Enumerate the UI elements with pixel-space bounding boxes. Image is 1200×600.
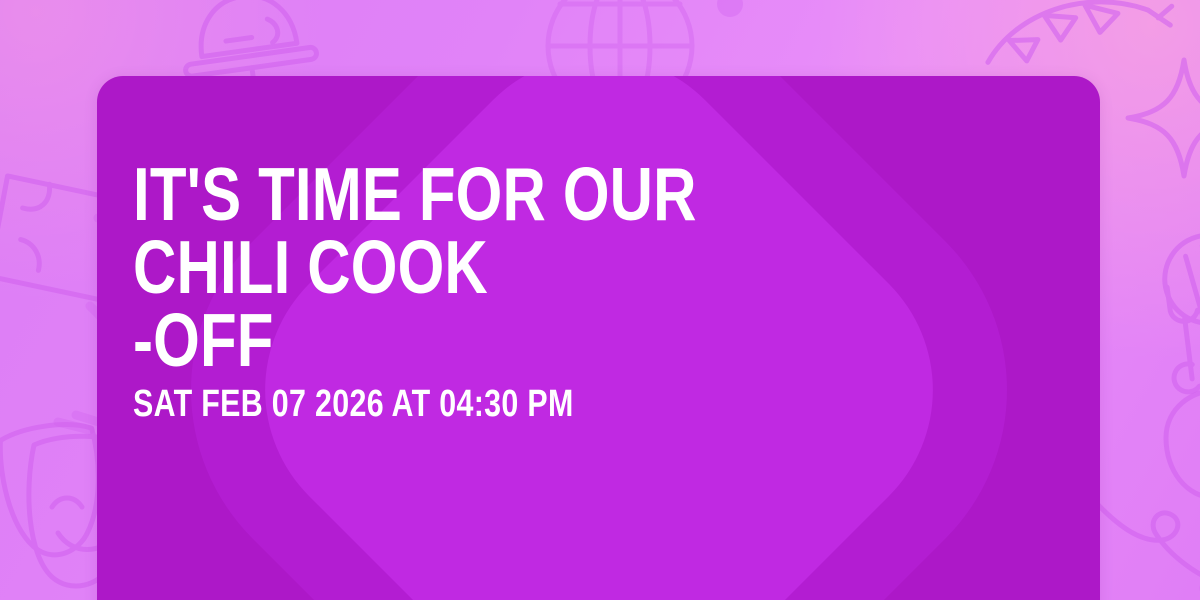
event-card: IT'S TIME FOR OUR CHILI COOK -OFF SAT FE… <box>97 76 1100 600</box>
event-title: IT'S TIME FOR OUR CHILI COOK -OFF <box>133 158 848 376</box>
confetti-dot-icon <box>700 0 760 42</box>
sparkle-icon <box>1128 52 1200 182</box>
event-datetime: SAT FEB 07 2026 AT 04:30 PM <box>133 385 574 423</box>
microphone-icon <box>1130 228 1200 388</box>
balloon-icon <box>1136 386 1200 556</box>
streamer-icon <box>1088 468 1200 600</box>
event-card-content: IT'S TIME FOR OUR CHILI COOK -OFF SAT FE… <box>133 76 1064 600</box>
announcement-canvas: IT'S TIME FOR OUR CHILI COOK -OFF SAT FE… <box>0 0 1200 600</box>
